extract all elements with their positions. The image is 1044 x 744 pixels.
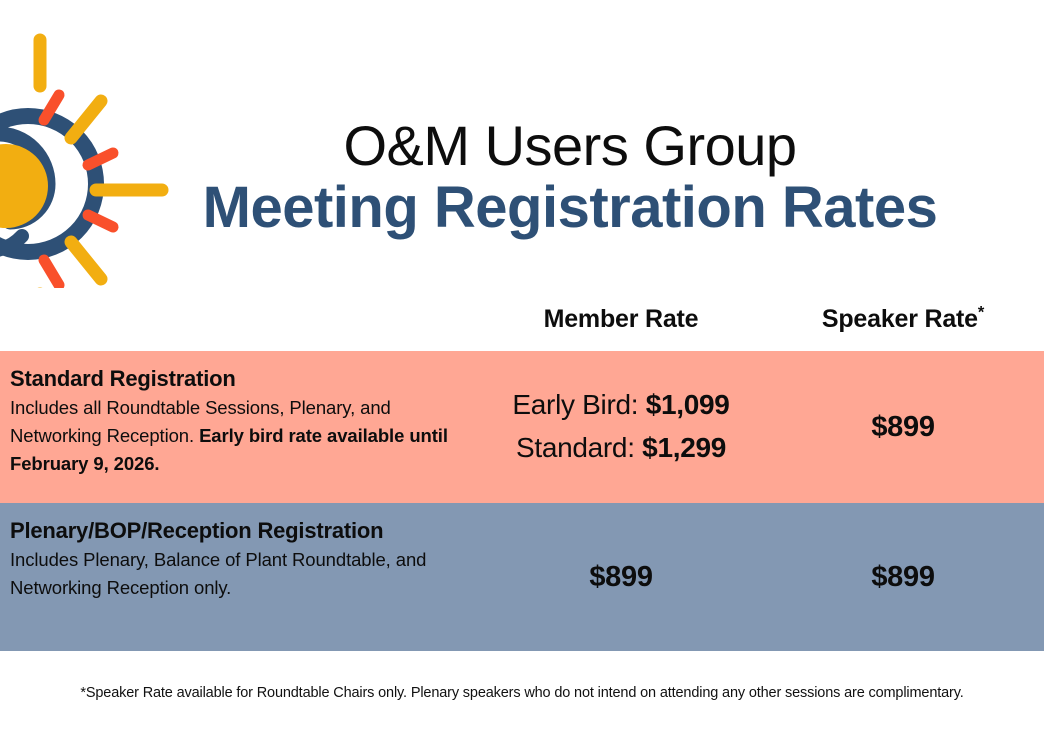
row-standard-member-rate-cell: Early Bird: $1,099 Standard: $1,299 bbox=[480, 351, 762, 503]
row-standard-description-cell: Standard Registration Includes all Round… bbox=[0, 351, 480, 503]
standard-rate-label: Standard: bbox=[516, 432, 642, 463]
speaker-rate-footnote: *Speaker Rate available for Roundtable C… bbox=[32, 682, 1012, 706]
row-plenary-member-rate-amount: $899 bbox=[589, 561, 652, 594]
page-title-main: Meeting Registration Rates bbox=[190, 176, 950, 241]
row-plenary-speaker-rate-cell: $899 bbox=[762, 503, 1044, 651]
row-plenary-speaker-rate-amount: $899 bbox=[871, 561, 934, 594]
early-bird-amount: $1,099 bbox=[646, 389, 730, 420]
page-title-block: O&M Users Group Meeting Registration Rat… bbox=[190, 118, 950, 241]
table-header-member-rate-label: Member Rate bbox=[544, 305, 699, 333]
speaker-rate-footnote-marker: * bbox=[978, 304, 984, 322]
row-standard-member-rate-early-bird: Early Bird: $1,099 bbox=[512, 384, 729, 427]
table-row: Plenary/BOP/Reception Registration Inclu… bbox=[0, 503, 1044, 651]
row-plenary-description: Includes Plenary, Balance of Plant Round… bbox=[10, 546, 466, 602]
row-standard-member-rate-standard: Standard: $1,299 bbox=[516, 427, 726, 470]
table-header-member-rate: Member Rate bbox=[480, 305, 762, 334]
registration-rates-table: Member Rate Speaker Rate* Standard Regis… bbox=[0, 288, 1044, 651]
row-standard-title: Standard Registration bbox=[10, 366, 466, 392]
sun-core-group bbox=[0, 116, 96, 252]
table-header-speaker-rate-label: Speaker Rate bbox=[822, 305, 978, 333]
row-plenary-description-cell: Plenary/BOP/Reception Registration Inclu… bbox=[0, 503, 480, 651]
row-standard-speaker-rate-amount: $899 bbox=[871, 411, 934, 444]
row-plenary-title: Plenary/BOP/Reception Registration bbox=[10, 518, 466, 544]
table-row: Standard Registration Includes all Round… bbox=[0, 351, 1044, 503]
row-plenary-member-rate-cell: $899 bbox=[480, 503, 762, 651]
row-standard-description: Includes all Roundtable Sessions, Plenar… bbox=[10, 394, 466, 478]
row-standard-speaker-rate-cell: $899 bbox=[762, 351, 1044, 503]
table-header-speaker-rate: Speaker Rate* bbox=[762, 305, 1044, 334]
standard-rate-amount: $1,299 bbox=[642, 432, 726, 463]
table-header-row: Member Rate Speaker Rate* bbox=[0, 288, 1044, 351]
early-bird-label: Early Bird: bbox=[512, 389, 645, 420]
page-title-organization: O&M Users Group bbox=[190, 118, 950, 174]
